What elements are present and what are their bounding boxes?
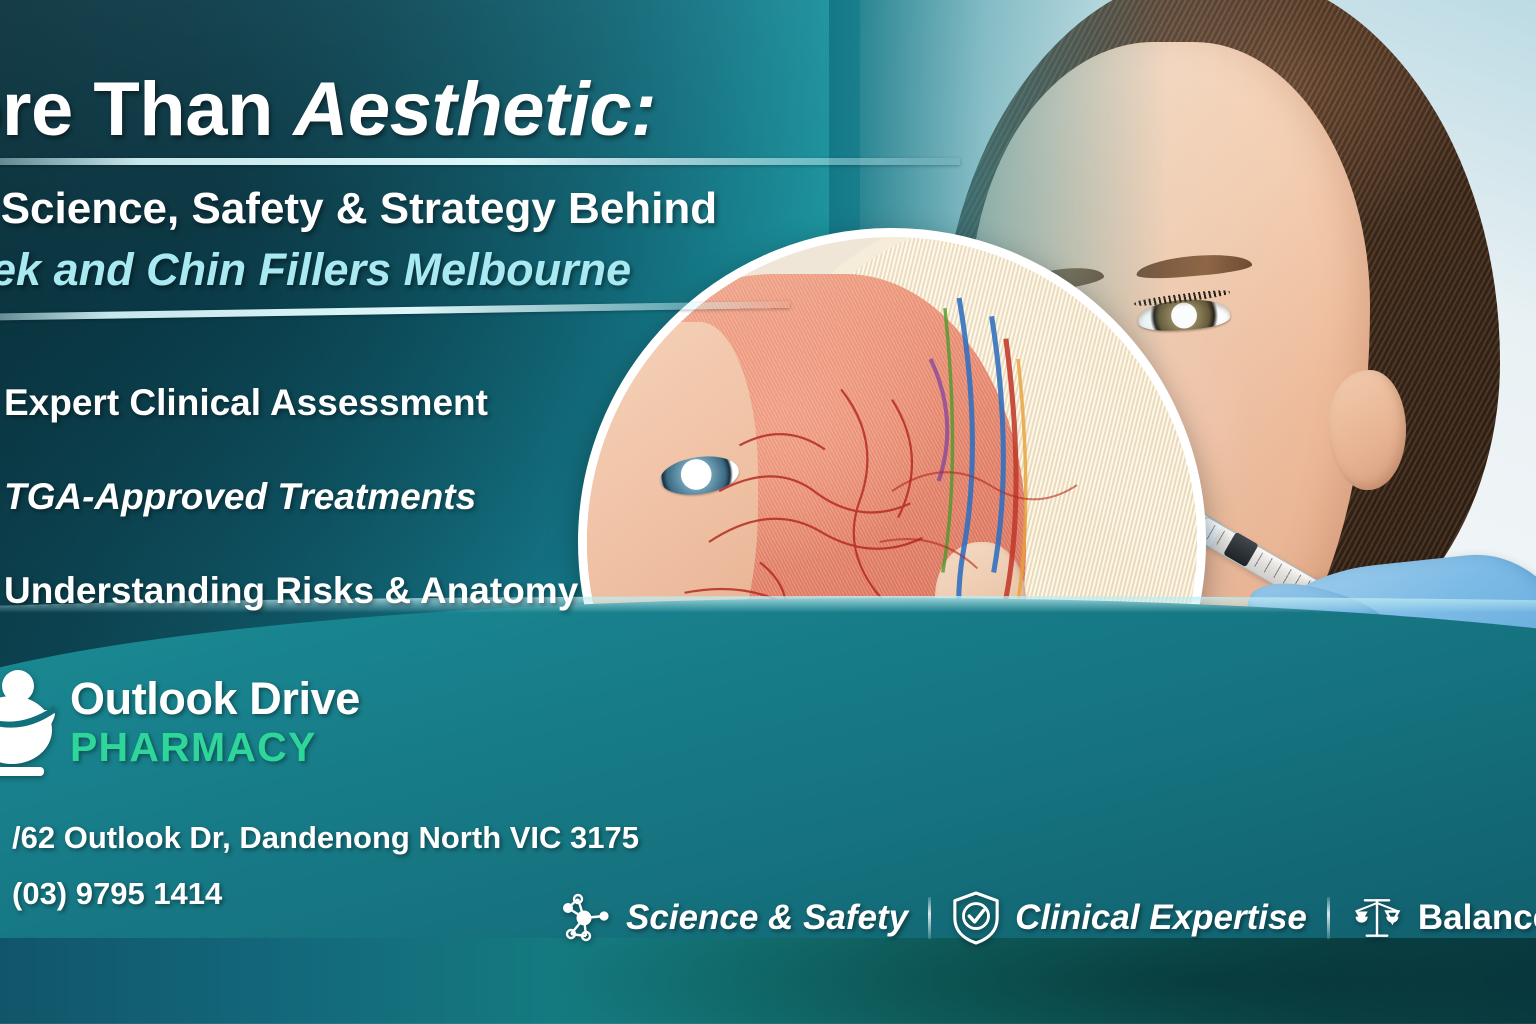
badge-label: Balanced Results <box>1418 898 1536 938</box>
badge-separator <box>928 897 931 939</box>
list-item: Expert Clinical Assessment <box>0 356 594 450</box>
list-item-label: Understanding Risks & Anatomy <box>4 570 578 612</box>
contact-phone-label: (03) 9795 1414 <box>12 876 222 912</box>
list-item: TGA-Approved Treatments <box>0 450 594 544</box>
list-item: Understanding Risks & Anatomy <box>0 544 594 638</box>
brand-name-primary: Outlook Drive <box>70 676 360 721</box>
contact-address-row: /62 Outlook Dr, Dandenong North VIC 3175 <box>0 810 628 866</box>
mortar-and-pestle-icon <box>0 668 58 778</box>
footer-band-vignette <box>0 938 1536 1024</box>
trust-badges: Science & Safety Clinical Expertise <box>556 886 1536 950</box>
brand-logo-text: Outlook Drive PHARMACY <box>70 676 360 770</box>
page-title: ore Than Aesthetic: <box>0 72 776 148</box>
contact-address-label: /62 Outlook Dr, Dandenong North VIC 3175 <box>12 820 639 856</box>
list-item-label: Expert Clinical Assessment <box>4 382 488 424</box>
contact-phone-row[interactable]: (03) 9795 1414 <box>0 866 628 922</box>
promotional-banner: ore Than Aesthetic: e Science, Safety & … <box>0 0 1536 1024</box>
shield-check-icon <box>951 890 1001 946</box>
list-item-label: TGA-Approved Treatments <box>4 476 476 518</box>
badge-science-safety: Science & Safety <box>556 890 908 946</box>
divider-top <box>0 158 960 165</box>
badge-separator <box>1327 897 1330 939</box>
subtitle: e Science, Safety & Strategy Behind <box>0 186 824 233</box>
badge-label: Science & Safety <box>626 898 908 938</box>
brand-name-secondary: PHARMACY <box>70 725 360 770</box>
subtitle-accent: eek and Chin Fillers Melbourne <box>0 246 826 294</box>
brand-logo: Outlook Drive PHARMACY <box>0 668 360 778</box>
badge-balanced-results: Balanced Results <box>1350 891 1536 945</box>
headline-prefix: ore Than <box>0 67 294 152</box>
badge-label: Clinical Expertise <box>1015 898 1307 938</box>
molecule-icon <box>556 890 612 946</box>
headline-emphasis: Aesthetic: <box>294 67 656 152</box>
badge-clinical-expertise: Clinical Expertise <box>951 890 1307 946</box>
feature-list: Expert Clinical Assessment TGA-Approved … <box>0 356 594 638</box>
balance-scales-icon <box>1350 891 1404 945</box>
